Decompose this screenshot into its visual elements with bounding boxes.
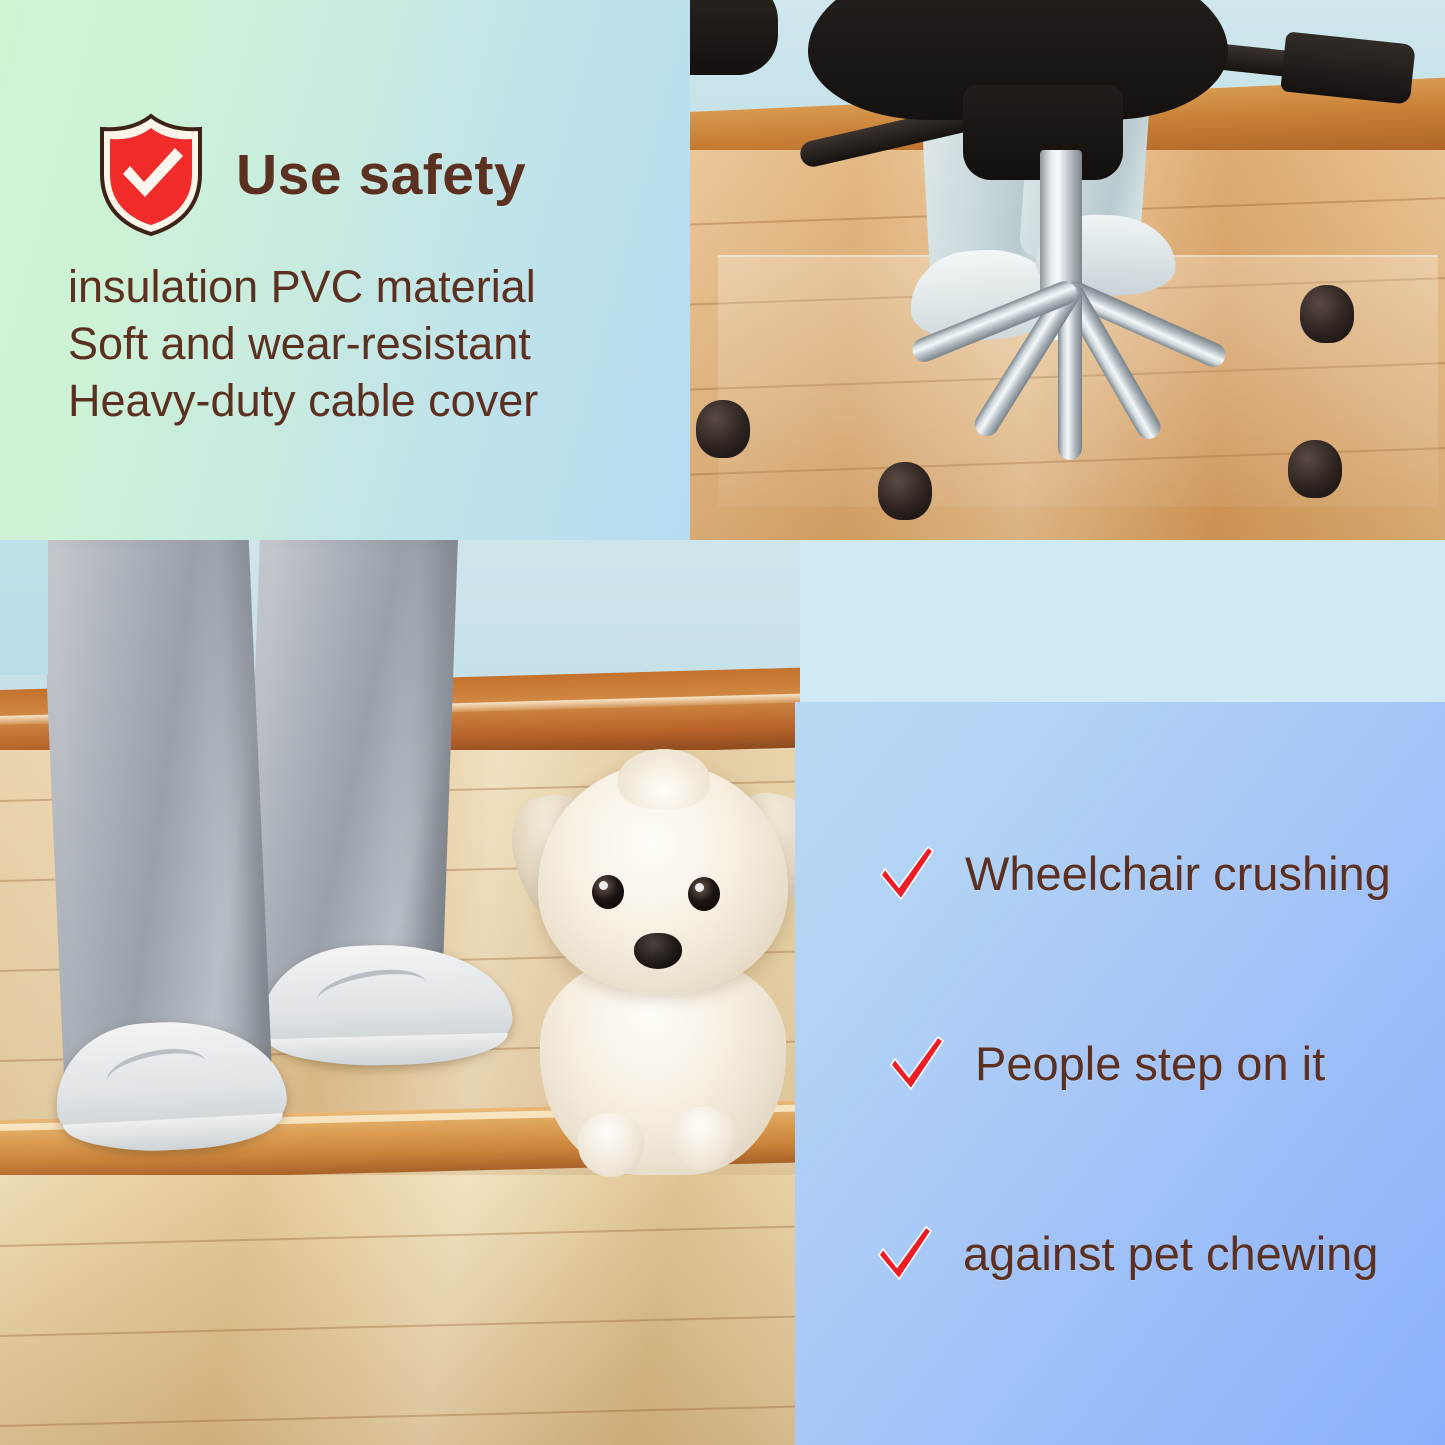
shoe-lace (103, 1042, 211, 1104)
panel-left-edge-strip (0, 540, 48, 675)
safety-feature-item: insulation PVC material (68, 258, 668, 315)
puppy-nose (634, 933, 682, 969)
chair-caster (1300, 285, 1354, 343)
white-puppy-photo (510, 755, 810, 1200)
product-infographic: Use safety insulation PVC material Soft … (0, 0, 1445, 1445)
person-right-leg (244, 520, 459, 1013)
safety-feature-item: Soft and wear-resistant (68, 315, 668, 372)
puppy-paw-left (578, 1113, 644, 1177)
benefit-label: against pet chewing (963, 1226, 1378, 1281)
chair-caster (696, 400, 750, 458)
benefits-panel: Wheelchair crushing People step on it ag… (795, 702, 1445, 1445)
benefit-label: People step on it (975, 1036, 1325, 1091)
puppy-eye-left (592, 875, 624, 909)
office-chair-on-floor-photo (688, 0, 1445, 540)
red-check-icon (885, 1032, 947, 1094)
use-safety-panel: Use safety insulation PVC material Soft … (0, 0, 690, 540)
red-check-icon (873, 1222, 935, 1284)
page-title: Use safety (236, 142, 526, 208)
chair-caster (1288, 440, 1342, 498)
puppy-eye-right (688, 877, 720, 911)
shield-check-icon (92, 112, 210, 238)
puppy-paw-right (670, 1107, 736, 1171)
benefit-label: Wheelchair crushing (965, 846, 1391, 901)
benefit-item: against pet chewing (873, 1222, 1378, 1284)
chair-armrest-far (688, 0, 778, 75)
safety-heading-row: Use safety (92, 112, 526, 238)
chair-caster (878, 462, 932, 520)
person-left-leg (40, 520, 272, 1084)
benefit-item: Wheelchair crushing (875, 842, 1391, 904)
lower-wood-floor (0, 1175, 800, 1445)
shoe-lace (314, 963, 429, 1022)
safety-feature-item: Heavy-duty cable cover (68, 372, 668, 429)
safety-feature-list: insulation PVC material Soft and wear-re… (68, 258, 668, 429)
benefit-item: People step on it (885, 1032, 1325, 1094)
puppy-topknot (618, 749, 710, 809)
red-check-icon (875, 842, 937, 904)
